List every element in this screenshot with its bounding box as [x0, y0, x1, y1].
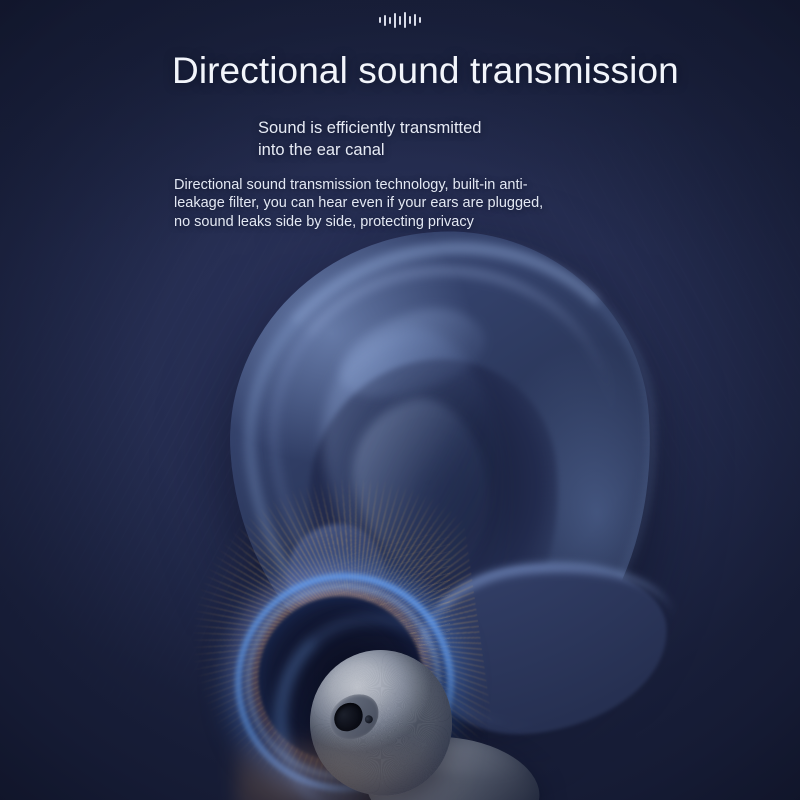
sound-wave-bar-1	[379, 17, 382, 23]
sound-wave-bar-7	[409, 16, 412, 24]
subtitle-line-2: into the ear canal	[258, 139, 698, 161]
sound-wave-bar-8	[414, 14, 417, 26]
sound-wave-bar-2	[384, 15, 387, 26]
page-title: Directional sound transmission	[172, 50, 732, 91]
description-line-1: Directional sound transmission technolog…	[174, 176, 644, 194]
sound-wave-icon	[0, 9, 800, 31]
description-line-2: leakage filter, you can hear even if you…	[174, 194, 644, 212]
sound-wave-bar-5	[399, 16, 402, 25]
subtitle-line-1: Sound is efficiently transmitted	[258, 117, 698, 139]
product-feature-page: Directional sound transmission Sound is …	[0, 0, 800, 800]
subtitle: Sound is efficiently transmitted into th…	[258, 117, 698, 162]
sound-wave-bar-4	[394, 13, 397, 28]
description-paragraph: Directional sound transmission technolog…	[174, 176, 644, 231]
sound-wave-bar-6	[404, 12, 407, 28]
sound-wave-bar-3	[389, 17, 392, 24]
sound-wave-bar-9	[419, 17, 422, 23]
description-line-3: no sound leaks side by side, protecting …	[174, 213, 644, 231]
